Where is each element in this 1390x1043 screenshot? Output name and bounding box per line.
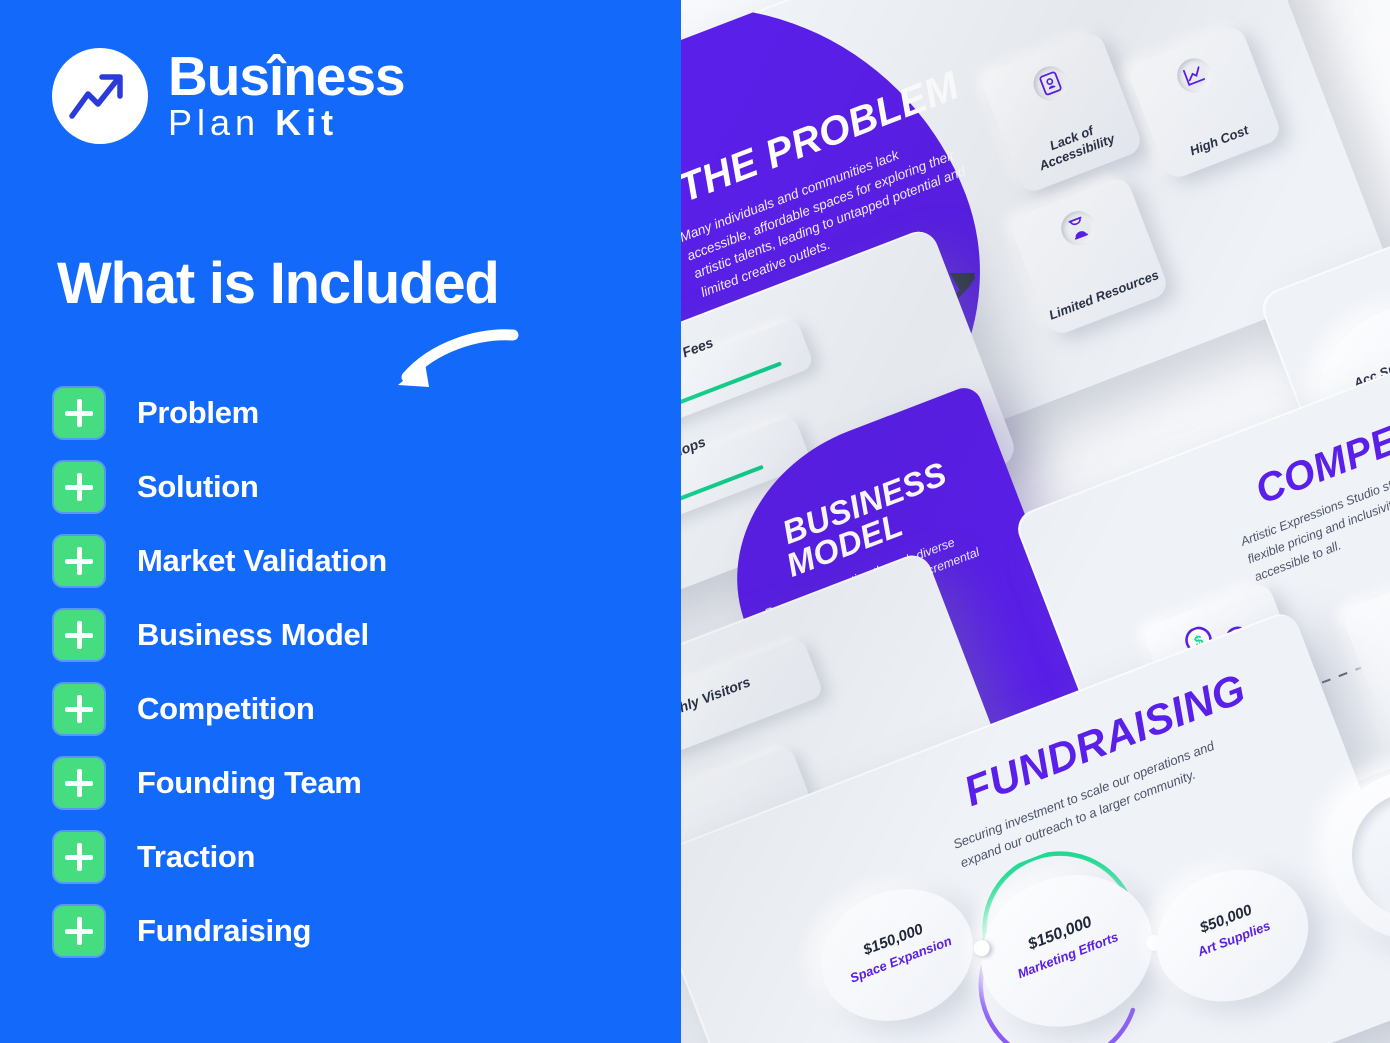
- problem-card-high-cost[interactable]: High Cost: [1126, 24, 1284, 182]
- plus-icon: [54, 906, 104, 956]
- gears-idea-icon: [1368, 583, 1390, 692]
- page-title: What is Included: [57, 250, 499, 317]
- list-item-label: Business Model: [137, 617, 369, 653]
- list-item-label: Problem: [137, 395, 259, 431]
- list-item[interactable]: Founding Team: [54, 758, 387, 808]
- list-item-label: Competition: [137, 691, 315, 727]
- plus-icon: [54, 758, 104, 808]
- locked-document-icon: [1029, 62, 1073, 106]
- plus-icon: [54, 462, 104, 512]
- plus-icon: [54, 684, 104, 734]
- sidebar-panel: Busîness Plan Kit What is Included Probl…: [0, 0, 681, 1043]
- list-item[interactable]: Market Validation: [54, 536, 387, 586]
- list-item[interactable]: Solution: [54, 462, 387, 512]
- list-item-label: Fundraising: [137, 913, 311, 949]
- curved-arrow-down-left-icon: [385, 325, 520, 395]
- hourglass-icon: [1056, 206, 1100, 250]
- list-item[interactable]: Competition: [54, 684, 387, 734]
- list-item[interactable]: Problem: [54, 388, 387, 438]
- brand-name-plan: Plan: [168, 102, 260, 143]
- problem-card-accessibility-label: Lack of Accessibility: [1010, 109, 1140, 183]
- list-item-label: Solution: [137, 469, 259, 505]
- plus-icon: [54, 610, 104, 660]
- brand-name-kit: Kit: [275, 102, 338, 143]
- brand-name-line2: Plan Kit: [168, 104, 405, 142]
- problem-card-high-cost-label: High Cost: [1160, 112, 1279, 170]
- list-item[interactable]: Business Model: [54, 610, 387, 660]
- growth-chart-arrow-icon: [52, 48, 148, 144]
- brand-logo[interactable]: Busîness Plan Kit: [52, 48, 405, 144]
- list-item[interactable]: Traction: [54, 832, 387, 882]
- included-items-list: Problem Solution Market Validation Busin…: [54, 388, 387, 980]
- rising-chart-icon: [1172, 53, 1216, 97]
- list-item[interactable]: Fundraising: [54, 906, 387, 956]
- list-item-label: Market Validation: [137, 543, 387, 579]
- brand-name-line1: Busîness: [168, 50, 405, 102]
- plus-icon: [54, 388, 104, 438]
- list-item-label: Founding Team: [137, 765, 362, 801]
- competition-card-professional-artists-label: Professional Artists: [1384, 678, 1390, 742]
- list-item-label: Traction: [137, 839, 255, 875]
- problem-card-accessibility[interactable]: Lack of Accessibility: [979, 30, 1144, 195]
- plus-icon: [54, 536, 104, 586]
- plus-icon: [54, 832, 104, 882]
